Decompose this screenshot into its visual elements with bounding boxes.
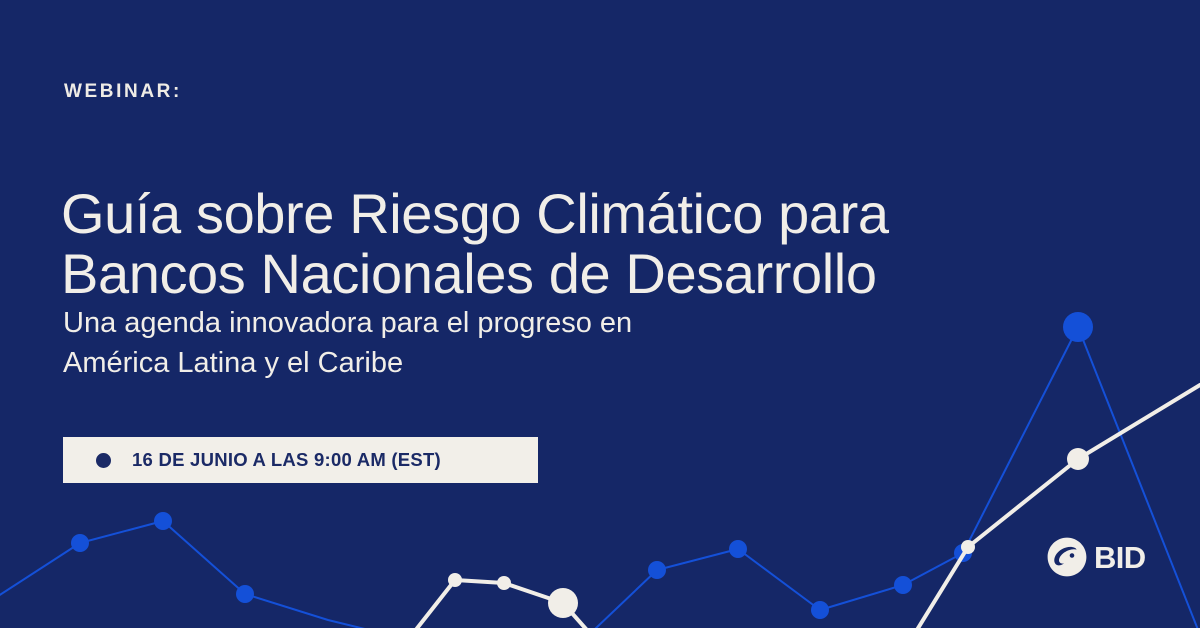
bid-wordmark: BID [1094, 542, 1146, 573]
event-date-badge: 16 DE JUNIO A LAS 9:00 AM (EST) [63, 437, 538, 483]
event-date-text: 16 DE JUNIO A LAS 9:00 AM (EST) [132, 449, 441, 471]
page-title-line-1: Guía sobre Riesgo Climático para [61, 184, 1061, 244]
webinar-promo-banner: WEBINAR: Guía sobre Riesgo Climático par… [0, 0, 1200, 628]
page-title-line-2: Bancos Nacionales de Desarrollo [61, 244, 1061, 304]
filled-circle-icon [96, 453, 111, 468]
page-title: Guía sobre Riesgo Climático para Bancos … [61, 184, 1061, 305]
bid-logo: BID [1047, 534, 1139, 580]
page-subtitle: Una agenda innovadora para el progreso e… [63, 303, 963, 383]
hero-content: WEBINAR: Guía sobre Riesgo Climático par… [0, 0, 1200, 628]
page-subtitle-line-1: Una agenda innovadora para el progreso e… [63, 303, 963, 343]
bid-bird-emblem-icon [1047, 537, 1087, 577]
eyebrow-label: WEBINAR: [64, 82, 182, 101]
page-subtitle-line-2: América Latina y el Caribe [63, 343, 963, 383]
